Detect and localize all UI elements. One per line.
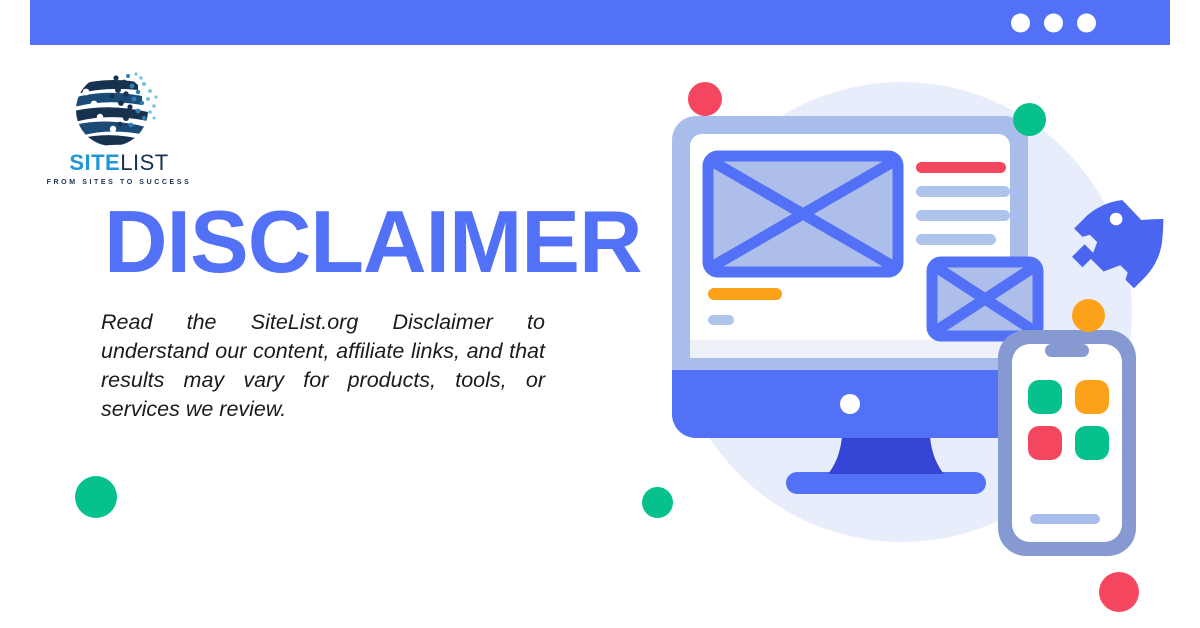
decor-dot-teal-mid xyxy=(642,487,673,518)
app-tile-teal-2 xyxy=(1075,426,1109,460)
screen-image-placeholder-small xyxy=(932,262,1038,336)
globe-halftone-icon xyxy=(64,66,174,154)
screen-image-placeholder-large xyxy=(708,156,898,272)
monitor-screen-strip xyxy=(690,340,1010,358)
screen-line-accent xyxy=(708,288,782,300)
screen-line-body-3 xyxy=(916,234,996,245)
app-tile-pink xyxy=(1028,426,1062,460)
window-dot-1[interactable] xyxy=(1011,13,1030,32)
body-paragraph: Read the SiteList.org Disclaimer to unde… xyxy=(101,308,545,424)
decor-dot-pink-bottom xyxy=(1099,572,1139,612)
screen-line-body-1 xyxy=(916,186,1010,197)
mobile-phone xyxy=(998,330,1136,556)
app-tile-orange xyxy=(1075,380,1109,414)
phone-home-bar xyxy=(1030,514,1100,524)
logo-wordmark: SITELIST xyxy=(44,152,194,174)
decor-dot-teal-top xyxy=(1013,103,1046,136)
page-title: DISCLAIMER xyxy=(104,198,642,286)
monitor-stand-base xyxy=(786,472,986,494)
decor-dot-teal-left xyxy=(75,476,117,518)
decor-dot-pink-top xyxy=(688,82,722,116)
screen-line-headline xyxy=(916,162,1006,173)
browser-chrome-bar xyxy=(30,0,1170,45)
brand-logo[interactable]: SITELIST FROM SITES TO SUCCESS xyxy=(44,66,194,186)
monitor xyxy=(672,116,1038,494)
phone-notch xyxy=(1045,344,1089,357)
monitor-power-dot xyxy=(840,394,860,414)
window-dot-3[interactable] xyxy=(1077,13,1096,32)
app-tile-teal-1 xyxy=(1028,380,1062,414)
screen-line-short xyxy=(708,315,734,325)
decor-dot-orange xyxy=(1072,299,1105,332)
window-controls xyxy=(1011,13,1096,32)
logo-tagline: FROM SITES TO SUCCESS xyxy=(44,179,194,186)
banner-canvas: SITELIST FROM SITES TO SUCCESS DISCLAIME… xyxy=(0,0,1200,628)
screen-line-body-2 xyxy=(916,210,1010,221)
window-dot-2[interactable] xyxy=(1044,13,1063,32)
